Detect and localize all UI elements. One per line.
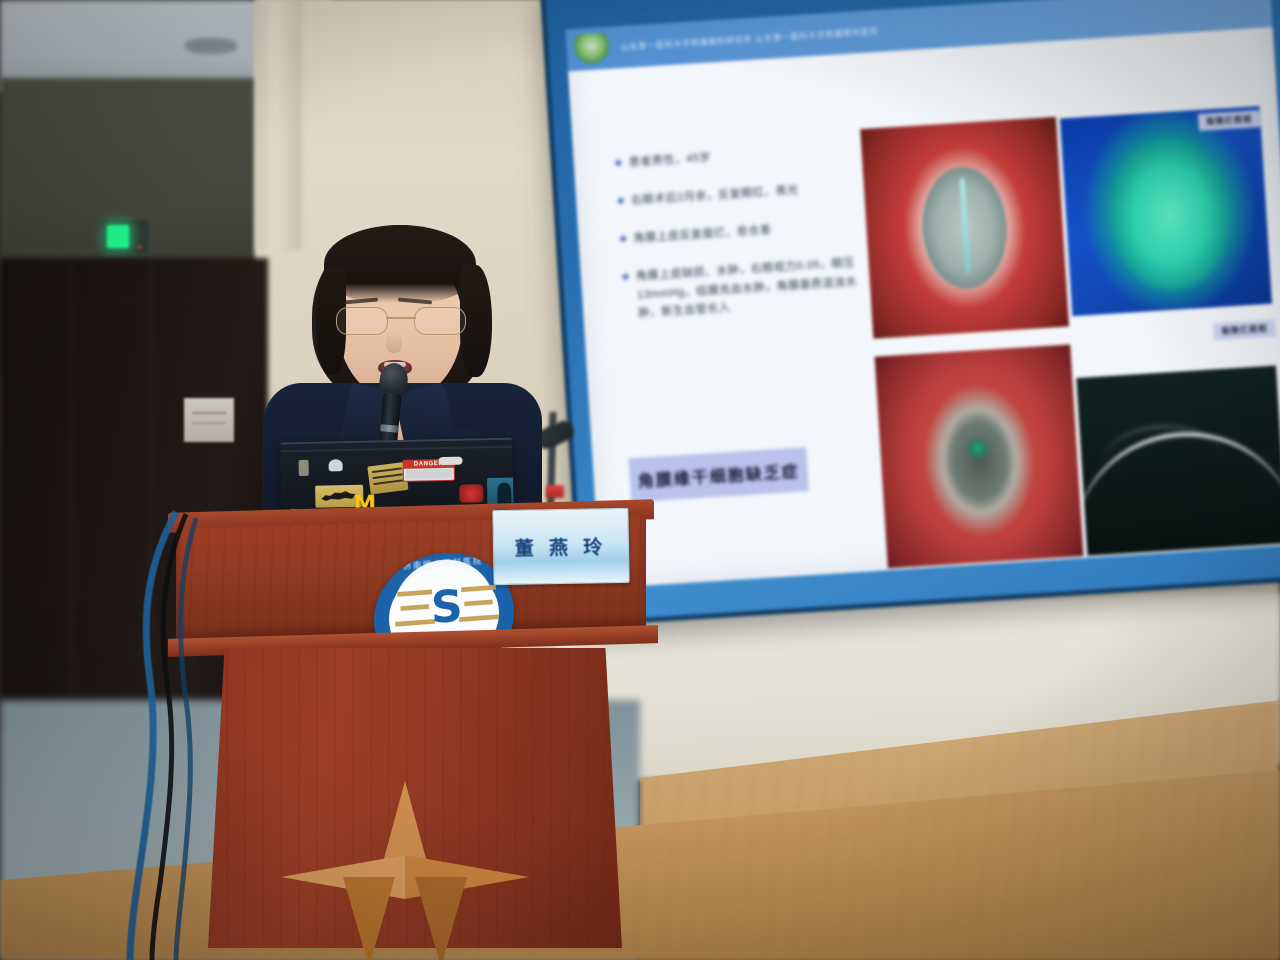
bullet-marker-icon	[620, 236, 627, 243]
door-seam	[70, 258, 72, 730]
bullet-marker-icon	[622, 274, 629, 281]
glasses-bridge	[386, 317, 416, 319]
lens-left	[336, 307, 388, 335]
diagnosis-text: 角膜缘干细胞缺乏症	[637, 458, 800, 492]
eyeglasses-icon	[334, 307, 468, 333]
lectern-star-inlay	[280, 784, 530, 960]
nose	[386, 331, 402, 353]
emergency-exit-sign	[100, 219, 150, 255]
image-label: 裂隙灯照相	[1213, 319, 1276, 340]
list-item: 患者男性，45岁	[615, 139, 866, 173]
slit-lamp-postop-image	[875, 344, 1084, 568]
slide-header: 山东第一医科大学附属眼科研究所 山东第一医科大学附属眼科医院	[565, 0, 1272, 71]
laptop-hinge	[280, 446, 512, 453]
slide-bullet-list: 患者男性，45岁 右眼术后2月余，反复眼红、畏光 角膜上皮反复糜烂、愈合差 角膜…	[615, 139, 876, 343]
slide-diagnosis-callout: 角膜缘干细胞缺乏症	[628, 447, 808, 502]
clinical-photo-red-eye	[860, 117, 1069, 339]
clinical-photo-oct	[1076, 366, 1280, 556]
exit-sign-indicator	[138, 245, 142, 249]
list-item: 右眼术后2月余，反复眼红、畏光	[618, 177, 869, 211]
clinical-photo-postop	[875, 344, 1084, 568]
bullet-text: 角膜上皮缺损、水肿，右眼视力0.05，眼压13mmHg，结膜充血水肿，角膜基质混…	[636, 253, 876, 322]
oct-corneal-scan-image	[1076, 366, 1280, 556]
exit-sign-glow	[107, 225, 129, 248]
fluorescein-stain-image	[1060, 106, 1272, 316]
ceiling-vent	[185, 38, 237, 54]
red-round-sticker	[459, 484, 483, 502]
speaker-nameplate: 董 燕 玲	[492, 508, 629, 585]
bullet-text: 患者男性，45岁	[628, 149, 711, 172]
stain-spot	[966, 439, 989, 458]
wall-column	[256, 0, 302, 250]
bullet-marker-icon	[617, 197, 624, 204]
list-item: 角膜上皮缺损、水肿，右眼视力0.05，眼压13mmHg，结膜充血水肿，角膜基质混…	[623, 253, 876, 323]
microphone-ring	[380, 424, 399, 433]
sticker	[329, 459, 343, 471]
logo-monogram-icon: 三S三	[373, 581, 514, 635]
slide-header-title: 山东第一医科大学附属眼科研究所 山东第一医科大学附属眼科医院	[620, 25, 878, 52]
bullet-marker-icon	[615, 159, 622, 166]
bullet-text: 角膜上皮反复糜烂、愈合差	[633, 221, 772, 248]
institution-logo-icon	[574, 33, 610, 65]
conference-photo-scene: 山东第一医科大学附属眼科研究所 山东第一医科大学附属眼科医院 患者男性，45岁 …	[0, 0, 1280, 960]
slide-image-grid: 裂隙灯照相 裂隙灯照相	[860, 104, 1280, 568]
sticker	[438, 457, 462, 466]
lens-right	[414, 307, 466, 335]
hair-front	[324, 225, 476, 303]
sticker	[299, 460, 309, 476]
door-notice-plate	[184, 398, 234, 442]
speaker-name-text: 董 燕 玲	[514, 532, 607, 561]
slit-beam	[960, 177, 971, 274]
slit-lamp-red-eye-image	[860, 117, 1069, 339]
list-item: 角膜上皮反复糜烂、愈合差	[620, 215, 871, 249]
presentation-slide: 山东第一医科大学附属眼科研究所 山东第一医科大学附属眼科医院 患者男性，45岁 …	[565, 0, 1280, 588]
bullet-text: 右眼术后2月余，反复眼红、畏光	[631, 181, 799, 210]
clinical-photo-fluorescein	[1060, 106, 1272, 316]
